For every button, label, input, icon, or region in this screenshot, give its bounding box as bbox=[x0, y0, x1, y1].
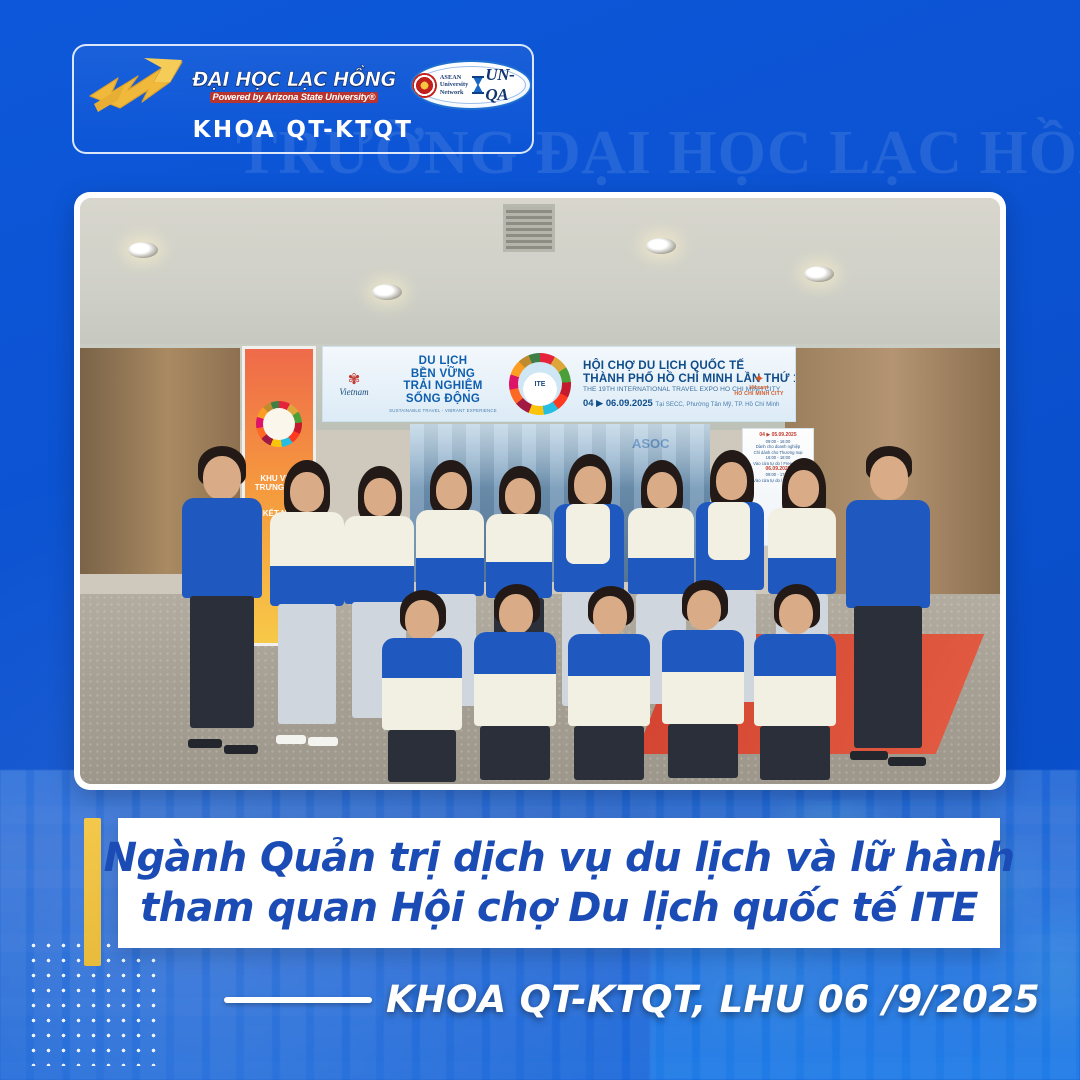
asean-network-label: ASEAN University Network bbox=[440, 74, 469, 96]
slogan-line-3: TRẢI NGHIỆM bbox=[385, 380, 501, 393]
lotus-icon: ✾ bbox=[331, 372, 377, 387]
faculty-name: KHOA QT-KTQT bbox=[74, 117, 532, 143]
hcmc-brand-line-2: HO CHI MINH CITY bbox=[731, 391, 787, 397]
ceiling-spotlight bbox=[804, 266, 834, 282]
vietnam-tourism-logo: ✾ Vietnam bbox=[331, 372, 377, 397]
ceiling-spotlight bbox=[128, 242, 158, 258]
banner-venue: Tại SECC, Phường Tân Mỹ, TP. Hồ Chí Minh bbox=[655, 401, 779, 408]
header-logo-row: ĐẠI HỌC LẠC HỒNG Powered by Arizona Stat… bbox=[74, 52, 532, 118]
person-faculty-advisor bbox=[840, 446, 936, 776]
gold-accent-bar bbox=[84, 818, 101, 966]
footer: KHOA QT-KTQT, LHU 06 /9/2025 bbox=[0, 978, 1040, 1021]
person-front-row bbox=[380, 590, 466, 784]
person-back-row bbox=[266, 460, 350, 760]
footer-divider-line bbox=[224, 997, 372, 1003]
banner-main-text: HỘI CHỢ DU LỊCH QUỐC TẾ THÀNH PHỐ HỒ CHÍ… bbox=[579, 359, 723, 410]
banner-title-vn-2: THÀNH PHỐ HỒ CHÍ MINH LẦN THỨ 19 bbox=[583, 372, 723, 385]
asean-line-1: ASEAN bbox=[440, 74, 469, 81]
person-front-row bbox=[566, 586, 654, 784]
banner-date-range: 04 ▶ 06.09.2025 bbox=[583, 397, 653, 408]
slogan-line-2: BỀN VỮNG bbox=[385, 368, 501, 381]
vietnam-logo-text: Vietnam bbox=[331, 387, 377, 397]
university-name: ĐẠI HỌC LẠC HỒNG bbox=[192, 68, 396, 91]
asean-line-2: University bbox=[440, 81, 469, 88]
ceiling-spotlight bbox=[646, 238, 676, 254]
ceiling-vent bbox=[503, 204, 555, 252]
slogan-subtitle: SUSTAINABLE TRAVEL - VIBRANT EXPERIENCE bbox=[385, 408, 501, 413]
person-front-row bbox=[660, 580, 748, 784]
poster-canvas: TRƯỜNG ĐẠI HỌC LẠC HỒNG ĐẠI HỌC LẠC HỒNG… bbox=[0, 0, 1080, 1080]
title-line-1: Ngành Quản trị dịch vụ du lịch và lữ hàn… bbox=[104, 835, 1015, 881]
hourglass-icon bbox=[471, 76, 485, 94]
ite-sdg-ring-icon: ITE bbox=[509, 353, 571, 415]
lac-hong-wordmark: ĐẠI HỌC LẠC HỒNG Powered by Arizona Stat… bbox=[192, 68, 396, 103]
title-card: Ngành Quản trị dịch vụ du lịch và lữ hàn… bbox=[118, 818, 1000, 948]
slogan-line-4: SỐNG ĐỘNG bbox=[385, 393, 501, 406]
person-back-row bbox=[176, 446, 268, 766]
aun-qa-label: UN-QA bbox=[485, 65, 530, 105]
person-front-row bbox=[472, 584, 560, 784]
header-card: ĐẠI HỌC LẠC HỒNG Powered by Arizona Stat… bbox=[72, 44, 534, 154]
banner-title-en: THE 19TH INTERNATIONAL TRAVEL EXPO HO CH… bbox=[583, 386, 723, 393]
powered-by-label: Powered by Arizona State University® bbox=[210, 92, 379, 103]
title-line-2: tham quan Hội chợ Du lịch quốc tế ITE bbox=[140, 885, 978, 931]
expo-led-banner: ✾ Vietnam DU LỊCH BỀN VỮNG TRẢI NGHIỆM S… bbox=[322, 346, 796, 422]
banner-title-vn-1: HỘI CHỢ DU LỊCH QUỐC TẾ bbox=[583, 359, 723, 372]
hcmc-brand-icon: ✦ bbox=[731, 372, 787, 385]
slogan-line-1: DU LỊCH bbox=[385, 355, 501, 368]
asean-seal-icon bbox=[412, 73, 437, 98]
lac-hong-bird-logo-icon bbox=[84, 52, 188, 118]
asean-line-3: Network bbox=[440, 89, 469, 96]
ite-ring-label: ITE bbox=[535, 381, 546, 388]
hall-sign: ASOC bbox=[632, 436, 670, 451]
banner-dates: 04 ▶ 06.09.2025 Tại SECC, Phường Tân Mỹ,… bbox=[583, 397, 723, 409]
footer-credit: KHOA QT-KTQT, LHU 06 /9/2025 bbox=[386, 978, 1040, 1021]
hcmc-brand-logo: ✦ Vibrant HO CHI MINH CITY bbox=[731, 372, 787, 397]
ceiling-spotlight bbox=[372, 284, 402, 300]
banner-slogan: DU LỊCH BỀN VỮNG TRẢI NGHIỆM SỐNG ĐỘNG S… bbox=[385, 355, 501, 413]
sdg-ring-icon bbox=[256, 401, 302, 447]
event-photo-frame: ASOC KHU VỰC TRƯNG BÀY KẾT NỐI 04 ▶ 05.0… bbox=[74, 192, 1006, 790]
person-front-row bbox=[752, 584, 840, 784]
aun-qa-badge: ASEAN University Network UN-QA bbox=[410, 60, 532, 110]
event-photo: ASOC KHU VỰC TRƯNG BÀY KẾT NỐI 04 ▶ 05.0… bbox=[80, 198, 1000, 784]
